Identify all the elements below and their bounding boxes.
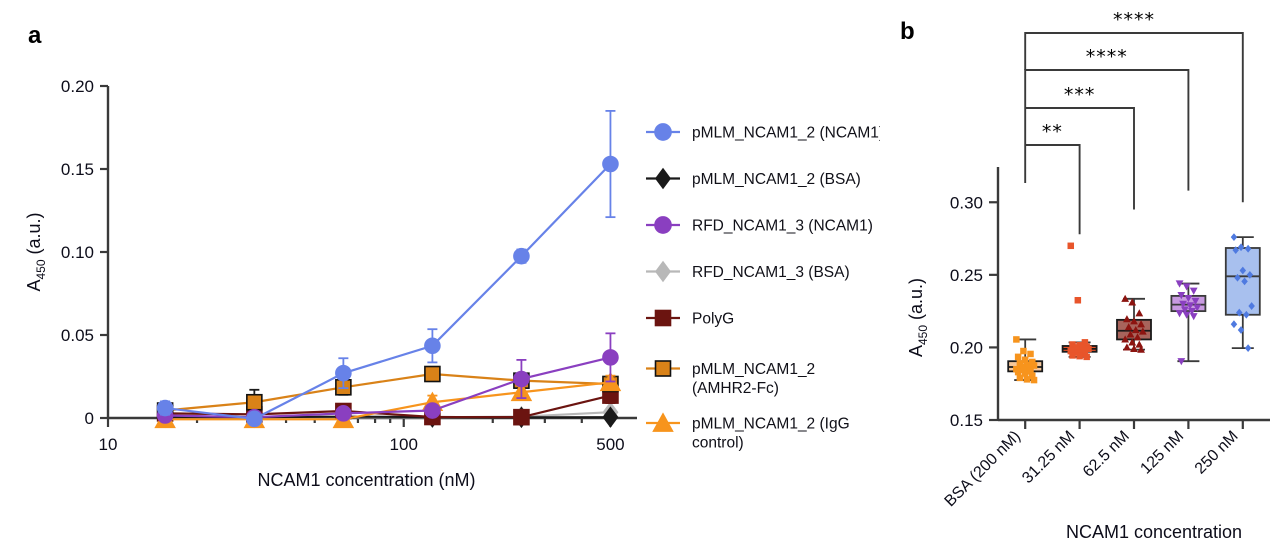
boxplot-point: [1020, 348, 1027, 355]
svg-text:31.25 nM: 31.25 nM: [1019, 428, 1078, 487]
boxplot-point: [1075, 297, 1082, 304]
boxplot-point: [1135, 340, 1143, 347]
panel-a-y-ticklabel: 0.05: [61, 326, 94, 345]
boxplot-point: [1245, 344, 1252, 352]
boxplot-point: [1027, 351, 1034, 358]
legend-item[interactable]: RFD_NCAM1_3 (NCAM1): [646, 217, 873, 235]
legend-item[interactable]: PolyG: [646, 311, 734, 328]
panel-a-point-marker: [425, 403, 441, 419]
boxplot-point: [1183, 312, 1191, 319]
panel-a-point-marker: [514, 371, 530, 387]
legend-item[interactable]: pMLM_NCAM1_2 (IgGcontrol): [646, 413, 850, 451]
legend-marker-circle: [655, 217, 672, 234]
legend-label: pMLM_NCAM1_2 (IgG: [692, 416, 850, 433]
svg-text:250 nM: 250 nM: [1192, 428, 1242, 478]
panel-b-chart: 0.150.200.250.30A450 (a.u.)BSA (200 nM)3…: [880, 0, 1280, 552]
panel-a-point-marker: [603, 156, 619, 172]
legend-item[interactable]: pMLM_NCAM1_2(AMHR2-Fc): [646, 361, 815, 397]
significance-label: ****: [1086, 46, 1128, 68]
panel-a-y-ticklabel: 0.10: [61, 243, 94, 262]
boxplot-point: [1176, 310, 1184, 317]
boxplot-point: [1083, 354, 1090, 361]
boxplot-point: [1015, 369, 1022, 376]
panel-b-x-ticklabel: 125 nM: [1137, 428, 1187, 478]
panel-b-x-axis-title: NCAM1 concentration: [1066, 522, 1242, 542]
panel-a-x-ticklabel: 100: [390, 435, 418, 454]
figure-canvas: a b 00.050.100.150.2010100500NCAM1 conce…: [0, 0, 1280, 552]
boxplot-group: [1117, 295, 1151, 353]
panel-a-point-marker: [514, 248, 530, 264]
svg-text:125 nM: 125 nM: [1137, 428, 1187, 478]
legend-item[interactable]: RFD_NCAM1_3 (BSA): [646, 262, 850, 282]
legend-label: pMLM_NCAM1_2 (NCAM1): [692, 125, 880, 142]
significance-label: **: [1042, 121, 1063, 143]
boxplot-point: [1123, 315, 1131, 322]
legend-label: RFD_NCAM1_3 (BSA): [692, 264, 850, 281]
boxplot-point: [1076, 353, 1083, 360]
legend-label: control): [692, 435, 744, 452]
panel-a-y-ticklabel: 0.15: [61, 160, 94, 179]
boxplot-point: [1017, 375, 1024, 382]
panel-a-series-line: [165, 374, 610, 411]
boxplot-point: [1015, 354, 1022, 361]
boxplot-point: [1190, 313, 1198, 320]
boxplot-point: [1231, 320, 1238, 328]
boxplot-point: [1068, 243, 1075, 250]
panel-a-x-ticklabel: 10: [99, 435, 118, 454]
legend-marker-diamond: [656, 262, 671, 282]
panel-b-x-ticklabel: 31.25 nM: [1019, 428, 1078, 487]
legend-label: pMLM_NCAM1_2: [692, 361, 815, 378]
panel-a-point-marker: [247, 411, 263, 427]
panel-a-series-line: [165, 357, 610, 417]
panel-b-y-ticklabel: 0.25: [950, 266, 983, 285]
legend-item[interactable]: pMLM_NCAM1_2 (NCAM1): [646, 124, 880, 142]
legend-label: PolyG: [692, 311, 734, 328]
boxplot-point: [1190, 288, 1198, 295]
panel-a-point-marker: [603, 350, 619, 366]
panel-a-y-ticklabel: 0.20: [61, 77, 94, 96]
significance-label: ****: [1113, 9, 1155, 31]
boxplot-point: [1183, 283, 1191, 290]
significance-bracket: ****: [1025, 46, 1188, 191]
panel-a-point-marker: [336, 406, 352, 422]
panel-a-y-axis-title: A450 (a.u.): [24, 212, 48, 291]
boxplot-point: [1024, 376, 1031, 383]
significance-label: ***: [1064, 84, 1096, 106]
panel-a-chart: 00.050.100.150.2010100500NCAM1 concentra…: [0, 20, 880, 540]
panel-a-point-marker: [157, 400, 173, 416]
svg-text:BSA (200 nM): BSA (200 nM): [942, 428, 1024, 510]
panel-a-x-ticklabel: 500: [596, 435, 624, 454]
panel-a-y-ticklabel: 0: [85, 409, 94, 428]
svg-text:A450 (a.u.): A450 (a.u.): [906, 278, 930, 357]
legend-marker-square: [656, 311, 671, 326]
significance-bracket: **: [1025, 121, 1079, 234]
significance-bracket-line: [1025, 145, 1079, 234]
panel-b-x-ticklabel: 62.5 nM: [1080, 428, 1133, 481]
boxplot-point: [1135, 309, 1143, 316]
svg-text:62.5 nM: 62.5 nM: [1080, 428, 1133, 481]
panel-b-y-ticklabel: 0.30: [950, 193, 983, 212]
panel-b-y-ticklabel: 0.15: [950, 411, 983, 430]
panel-b-y-axis-title: A450 (a.u.): [906, 278, 930, 357]
panel-a-series: [157, 111, 618, 427]
panel-b-y-ticklabel: 0.20: [950, 338, 983, 357]
boxplot-group: [1063, 243, 1097, 361]
legend-marker-square: [656, 361, 671, 376]
svg-text:A450 (a.u.): A450 (a.u.): [24, 212, 48, 291]
panel-a-point-marker: [336, 365, 352, 381]
boxplot-group: [1171, 280, 1205, 365]
panel-a-series-line: [165, 396, 610, 418]
boxplot-point: [1031, 377, 1038, 384]
panel-a-point-marker: [247, 395, 262, 410]
panel-a-x-axis-title: NCAM1 concentration (nM): [257, 470, 475, 490]
legend-label: pMLM_NCAM1_2 (BSA): [692, 171, 861, 188]
boxplot-group: [1226, 233, 1260, 352]
panel-a-point-marker: [425, 338, 441, 354]
legend-marker-circle: [655, 124, 672, 141]
legend-label: (AMHR2-Fc): [692, 380, 779, 397]
panel-a-point-marker: [514, 410, 529, 425]
panel-b-x-ticklabel: 250 nM: [1192, 428, 1242, 478]
boxplot-point: [1069, 352, 1076, 359]
boxplot-group: [1008, 336, 1042, 383]
boxplot-point: [1231, 233, 1238, 241]
panel-a-point-marker: [425, 367, 440, 382]
panel-b-x-ticklabel: BSA (200 nM): [942, 428, 1024, 510]
legend-label: RFD_NCAM1_3 (NCAM1): [692, 218, 873, 235]
legend-item[interactable]: pMLM_NCAM1_2 (BSA): [646, 169, 861, 189]
legend-marker-diamond: [656, 169, 671, 189]
boxplot-point: [1013, 336, 1020, 343]
